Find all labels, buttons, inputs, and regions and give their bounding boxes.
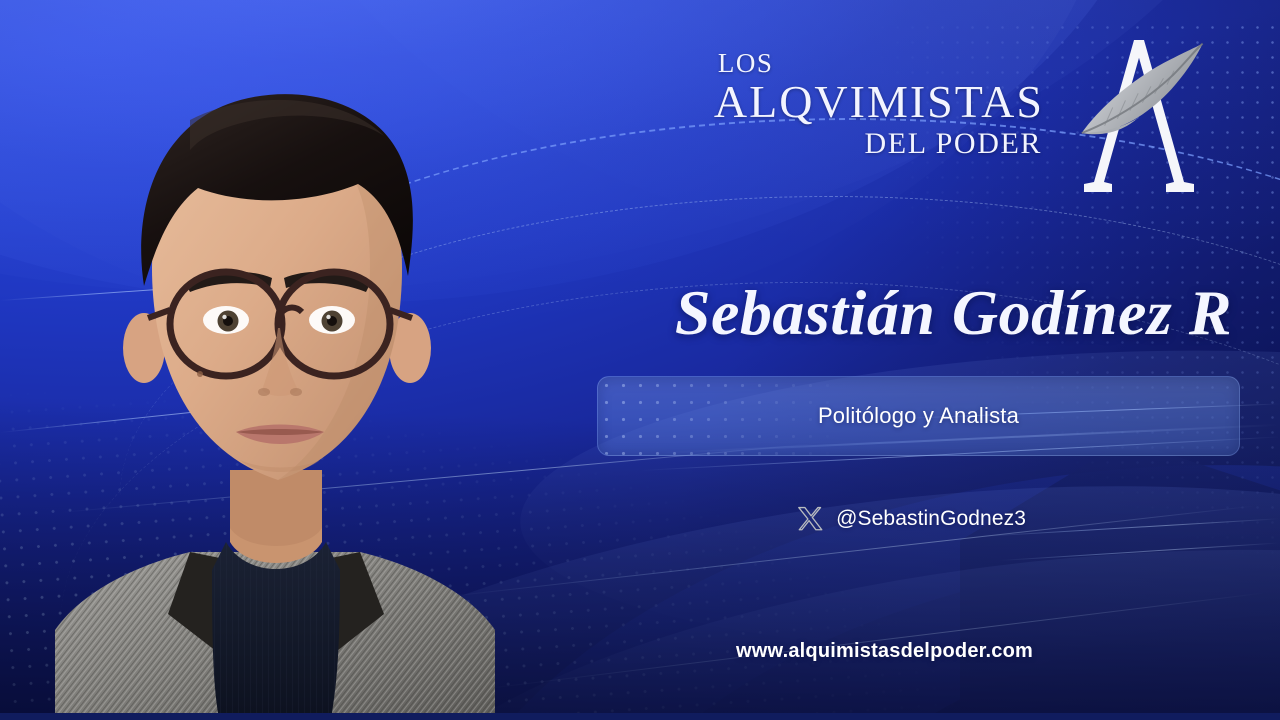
person-role-label: Politólogo y Analista xyxy=(818,403,1019,429)
broadcast-lower-third-graphic: LOS ALQVIMISTAS DEL PODER xyxy=(0,0,1280,720)
brand-logo-line-3: DEL PODER xyxy=(714,127,1042,160)
brand-logo-line-2: ALQVIMISTAS xyxy=(714,79,1044,126)
portrait-photo xyxy=(40,18,510,713)
bottom-accent-bar xyxy=(0,713,1280,720)
brand-logo-line-1: LOS xyxy=(718,50,1044,77)
person-role-bar: Politólogo y Analista xyxy=(597,376,1240,456)
website-url[interactable]: www.alquimistasdelpoder.com xyxy=(0,640,1033,663)
x-twitter-icon[interactable] xyxy=(796,505,824,533)
letter-a-feather-monogram-icon xyxy=(1058,34,1218,199)
social-handle-group[interactable]: @SebastinGodnez3 xyxy=(0,505,1026,533)
social-handle-text[interactable]: @SebastinGodnez3 xyxy=(836,507,1026,531)
brand-logo: LOS ALQVIMISTAS DEL PODER xyxy=(714,38,1218,199)
brand-logo-wordmark: LOS ALQVIMISTAS DEL PODER xyxy=(714,38,1044,160)
person-name: Sebastián Godínez R xyxy=(0,276,1232,350)
background-navy-polygon xyxy=(960,440,1280,720)
